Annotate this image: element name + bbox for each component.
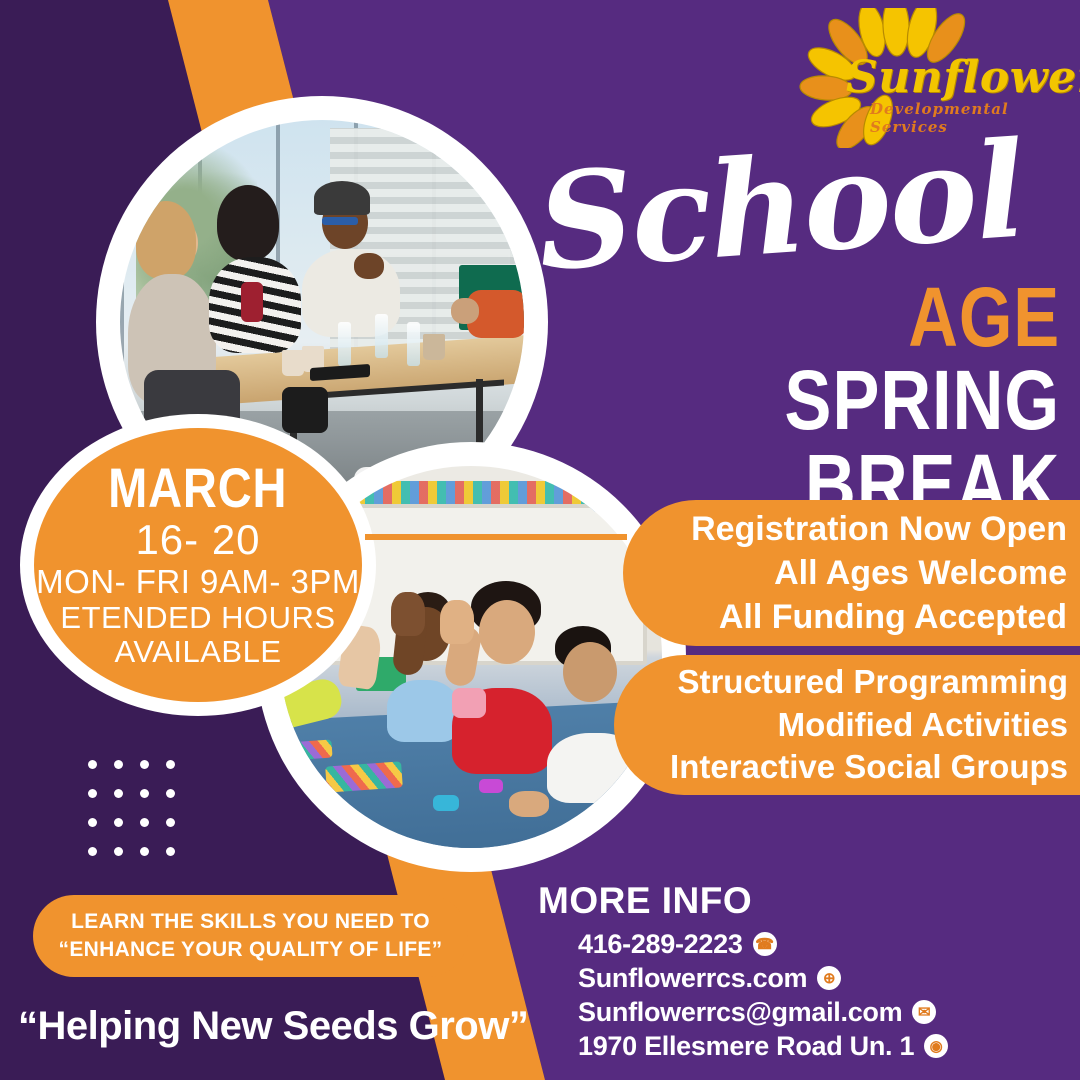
location-pin-icon: ◉ xyxy=(924,1034,948,1058)
dot xyxy=(166,789,175,798)
programming-pill: Structured Programming Modified Activiti… xyxy=(614,655,1080,795)
registration-line-2: All Ages Welcome xyxy=(774,551,1067,595)
contact-row-address[interactable]: 1970 Ellesmere Road Un. 1 ◉ xyxy=(578,1030,948,1062)
website-url: Sunflowerrcs.com xyxy=(578,963,807,994)
skills-banner: LEARN THE SKILLS YOU NEED TO “ENHANCE YO… xyxy=(33,895,468,977)
orange-connector-line xyxy=(365,534,627,540)
more-info-heading: MORE INFO xyxy=(538,880,752,922)
dot xyxy=(88,789,97,798)
tagline: “Helping New Seeds Grow” xyxy=(18,1004,528,1049)
dot xyxy=(88,760,97,769)
dot xyxy=(114,760,123,769)
contact-row-email[interactable]: Sunflowerrcs@gmail.com ✉ xyxy=(578,996,948,1028)
dot xyxy=(88,818,97,827)
flyer-poster: Sunflower Developmental Services School … xyxy=(0,0,1080,1080)
programming-line-2: Modified Activities xyxy=(778,704,1068,747)
date-month: MARCH xyxy=(108,461,287,516)
registration-line-1: Registration Now Open xyxy=(691,507,1067,551)
dot xyxy=(140,847,149,856)
globe-icon: ⊕ xyxy=(817,966,841,990)
dot xyxy=(140,789,149,798)
envelope-icon: ✉ xyxy=(912,1000,936,1024)
contact-row-website[interactable]: Sunflowerrcs.com ⊕ xyxy=(578,962,948,994)
dot xyxy=(140,818,149,827)
phone-icon: ☎ xyxy=(753,932,777,956)
logo-wordmark: Sunflower xyxy=(846,52,1080,103)
programming-line-1: Structured Programming xyxy=(677,661,1068,704)
date-circle: MARCH 16- 20 MON- FRI 9AM- 3PM ETENDED H… xyxy=(34,428,362,702)
programming-line-3: Interactive Social Groups xyxy=(670,746,1068,789)
dot xyxy=(166,818,175,827)
date-days: 16- 20 xyxy=(135,516,260,564)
contact-row-phone[interactable]: 416-289-2223 ☎ xyxy=(578,928,948,960)
email-address: Sunflowerrcs@gmail.com xyxy=(578,997,902,1028)
phone-number: 416-289-2223 xyxy=(578,929,743,960)
date-hours: MON- FRI 9AM- 3PM xyxy=(36,564,360,601)
dot xyxy=(166,847,175,856)
skills-line-2: “ENHANCE YOUR QUALITY OF LIFE” xyxy=(59,936,443,964)
decorative-dot-grid xyxy=(88,760,192,876)
dot xyxy=(166,760,175,769)
contact-list: 416-289-2223 ☎ Sunflowerrcs.com ⊕ Sunflo… xyxy=(578,928,948,1064)
dot xyxy=(114,847,123,856)
dot xyxy=(114,818,123,827)
date-extended-hours-line1: ETENDED HOURS xyxy=(60,601,335,635)
headline-accent-word: AGE xyxy=(634,275,1060,359)
dot xyxy=(140,760,149,769)
dot xyxy=(114,789,123,798)
registration-pill: Registration Now Open All Ages Welcome A… xyxy=(623,500,1080,646)
skills-line-1: LEARN THE SKILLS YOU NEED TO xyxy=(71,908,430,936)
registration-line-3: All Funding Accepted xyxy=(719,595,1067,639)
street-address: 1970 Ellesmere Road Un. 1 xyxy=(578,1031,914,1062)
date-extended-hours-line2: AVAILABLE xyxy=(114,635,281,669)
dot xyxy=(88,847,97,856)
